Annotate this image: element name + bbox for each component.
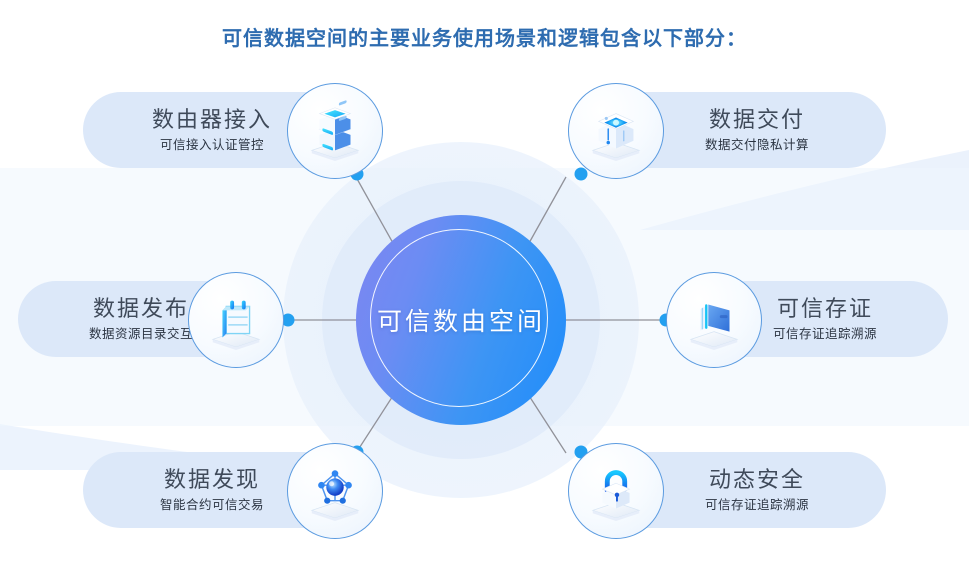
icon-bubble-trusted-evidence[interactable] <box>666 272 762 368</box>
hub-label: 可信数由空间 <box>377 302 545 338</box>
card-subtitle: 可信接入认证管控 <box>160 138 264 154</box>
card-title: 数据发现 <box>164 466 260 494</box>
book-ledger-icon <box>683 289 745 351</box>
card-title: 动态安全 <box>709 466 805 494</box>
icon-bubble-data-publish[interactable] <box>188 272 284 368</box>
center-hub[interactable]: 可信数由空间 <box>356 215 566 425</box>
card-subtitle: 可信存证追踪溯源 <box>773 327 877 343</box>
icon-bubble-data-discovery[interactable] <box>287 443 383 539</box>
card-subtitle: 可信存证追踪溯源 <box>705 498 809 514</box>
diagram-canvas: 可信数据空间的主要业务使用场景和逻辑包含以下部分： 数由器接入 可信接入认证管控 <box>0 0 969 564</box>
connector-dot <box>575 168 588 181</box>
card-subtitle: 数据交付隐私计算 <box>705 138 809 154</box>
cube-chip-icon <box>585 100 647 162</box>
card-subtitle: 数据资源目录交互 <box>89 327 193 343</box>
card-title: 数据交付 <box>709 106 805 134</box>
card-title: 数据发布 <box>93 295 189 323</box>
catalog-board-icon <box>205 289 267 351</box>
card-title: 数由器接入 <box>152 106 272 134</box>
icon-bubble-data-delivery[interactable] <box>568 83 664 179</box>
icon-bubble-router-access[interactable] <box>287 83 383 179</box>
server-stack-icon <box>304 100 366 162</box>
card-subtitle: 智能合约可信交易 <box>160 498 264 514</box>
page-title: 可信数据空间的主要业务使用场景和逻辑包含以下部分： <box>0 22 969 51</box>
network-molecule-icon <box>304 460 366 522</box>
card-title: 可信存证 <box>777 295 873 323</box>
padlock-icon <box>585 460 647 522</box>
icon-bubble-dynamic-security[interactable] <box>568 443 664 539</box>
